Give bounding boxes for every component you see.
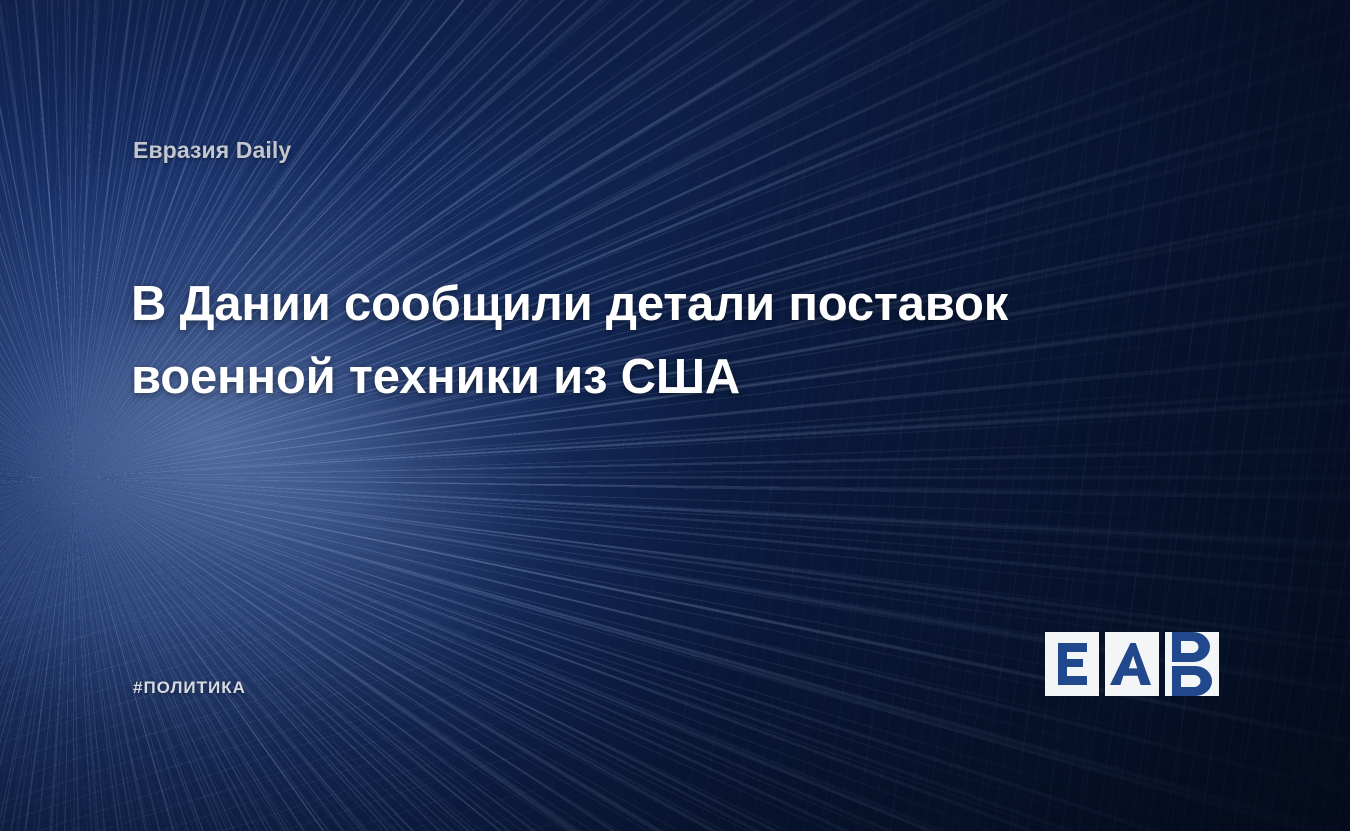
card-content: Евразия Daily В Дании сообщили детали по… <box>0 0 1350 831</box>
category-tag[interactable]: #ПОЛИТИКА <box>133 678 246 698</box>
headline: В Дании сообщили детали поставок военной… <box>131 268 1141 414</box>
logo-letter-e <box>1058 643 1087 685</box>
brand-label: Евразия Daily <box>133 137 291 164</box>
eadaily-logo[interactable] <box>1044 616 1226 698</box>
logo-tile-a-background <box>1105 632 1159 696</box>
news-social-card: Евразия Daily В Дании сообщили детали по… <box>0 0 1350 831</box>
